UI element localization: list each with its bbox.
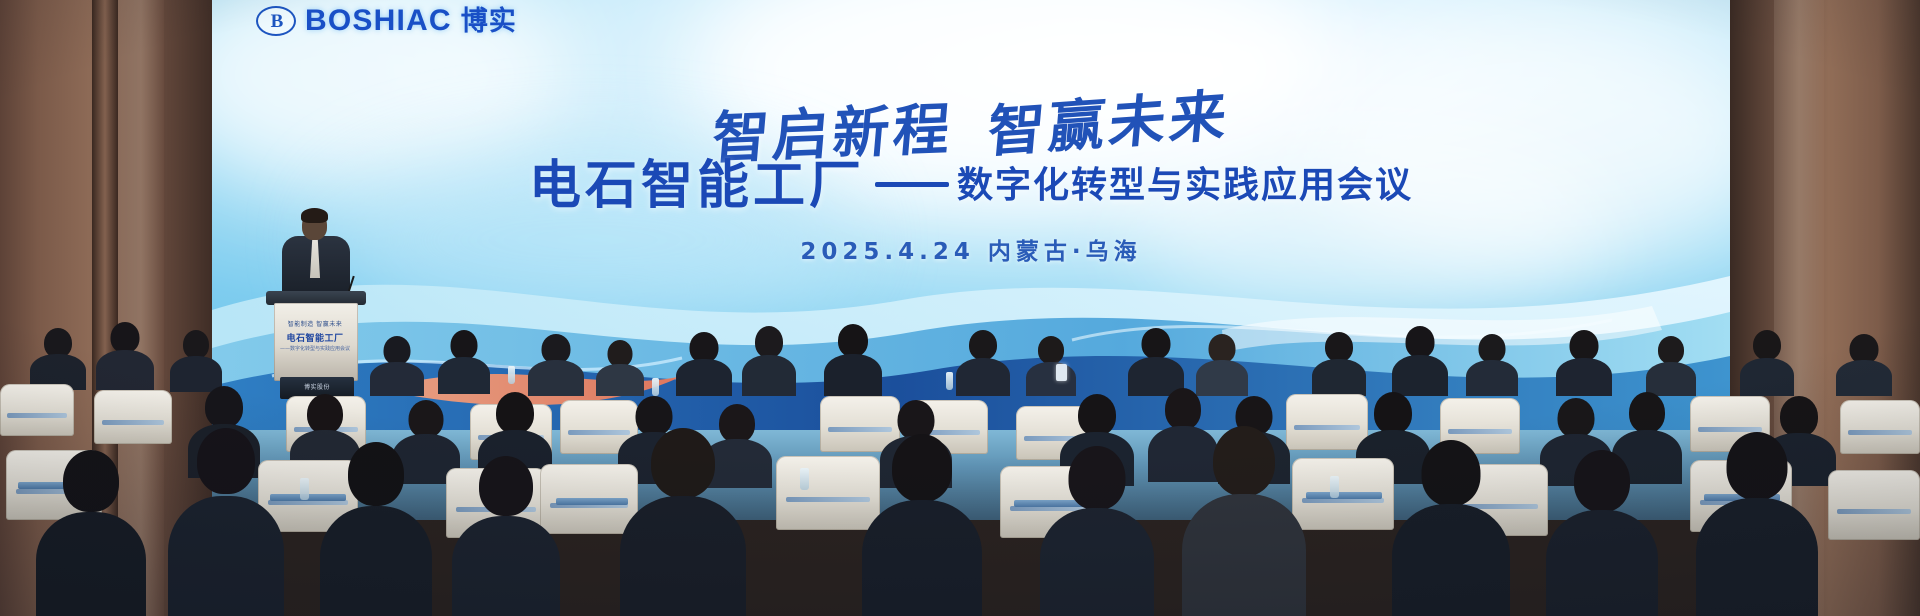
logo-wordmark: BOSHIAC <box>305 6 452 36</box>
banquet-chair <box>1840 400 1920 454</box>
calligraphy-slogan: 智启新程 智赢未来 <box>212 96 1730 162</box>
water-bottle <box>300 478 309 500</box>
person-head <box>1479 334 1506 363</box>
audience-person <box>528 334 584 396</box>
person-shoulders <box>528 360 584 396</box>
audience-person <box>620 428 746 616</box>
person-head <box>479 456 533 516</box>
audience-person <box>824 324 882 396</box>
audience-person <box>452 456 560 616</box>
audience-person <box>1392 440 1510 616</box>
person-shoulders <box>956 358 1010 396</box>
person-head <box>755 326 783 358</box>
audience-person <box>30 328 86 390</box>
company-logo: B BOSHIAC 博实 <box>256 6 517 36</box>
audience-person <box>1040 446 1154 616</box>
person-shoulders <box>1836 360 1892 396</box>
person-head <box>1209 334 1236 363</box>
person-head <box>608 340 633 367</box>
audience-person <box>862 434 982 616</box>
person-head <box>307 394 343 434</box>
person-head <box>1213 426 1275 496</box>
audience-person <box>370 336 424 396</box>
audience-person <box>1196 334 1248 396</box>
audience-person <box>1182 426 1306 616</box>
person-head <box>838 324 868 357</box>
person-head <box>1078 394 1116 436</box>
person-shoulders <box>1740 358 1794 396</box>
audience-person <box>438 330 490 394</box>
person-shoulders <box>1466 360 1518 396</box>
person-shoulders <box>36 512 146 616</box>
person-head <box>1727 432 1788 500</box>
person-shoulders <box>676 359 732 396</box>
person-shoulders <box>1646 362 1696 396</box>
person-shoulders <box>1696 498 1818 616</box>
person-shoulders <box>1556 358 1612 396</box>
audience-person <box>1312 332 1366 396</box>
person-head <box>1325 332 1353 362</box>
audience-person <box>956 330 1010 396</box>
water-bottle <box>800 468 809 490</box>
audience-person <box>1392 326 1448 396</box>
audience-person <box>742 326 796 396</box>
chair-sash <box>1306 492 1382 499</box>
slogan-phrase-2: 智赢未来 <box>985 88 1232 161</box>
person-shoulders <box>742 355 796 396</box>
audience-person <box>168 428 284 616</box>
person-head <box>1406 326 1435 358</box>
audience-person <box>320 442 432 616</box>
person-head <box>1658 336 1684 364</box>
person-head <box>63 450 119 512</box>
mobile-phone <box>1056 364 1067 381</box>
audience-area <box>0 300 1920 616</box>
person-shoulders <box>1546 510 1658 616</box>
audience-person <box>36 450 146 616</box>
audience-person <box>1740 330 1794 396</box>
person-head <box>205 386 243 428</box>
person-shoulders <box>320 506 432 616</box>
person-head <box>1142 328 1171 359</box>
person-shoulders <box>1392 504 1510 616</box>
person-head <box>969 330 997 360</box>
audience-person <box>596 340 644 396</box>
audience-person <box>1546 450 1658 616</box>
audience-person <box>1646 336 1696 396</box>
person-head <box>348 442 404 506</box>
water-bottle <box>946 372 953 390</box>
person-head <box>1574 450 1630 512</box>
person-shoulders <box>1312 359 1366 396</box>
audience-person <box>170 330 222 392</box>
person-head <box>409 400 444 438</box>
audience-person <box>96 322 154 390</box>
person-head <box>1422 440 1481 506</box>
person-head <box>1374 392 1412 434</box>
person-head <box>197 428 255 494</box>
person-head <box>384 336 411 365</box>
logo-chinese-name: 博实 <box>461 8 517 35</box>
audience-person <box>1466 334 1518 396</box>
person-shoulders <box>452 516 560 616</box>
person-head <box>1069 446 1126 510</box>
water-bottle <box>508 366 515 384</box>
person-shoulders <box>370 362 424 396</box>
person-shoulders <box>620 496 746 616</box>
person-head <box>1038 336 1064 364</box>
speaker-hair <box>301 208 328 223</box>
person-head <box>1753 330 1781 360</box>
person-head <box>1570 330 1599 361</box>
person-shoulders <box>438 357 490 394</box>
chair-sash <box>556 498 628 505</box>
person-shoulders <box>1392 355 1448 396</box>
person-shoulders <box>862 500 982 616</box>
person-head <box>1165 388 1201 430</box>
person-shoulders <box>824 354 882 396</box>
audience-person <box>1128 328 1184 396</box>
audience-person <box>1836 334 1892 396</box>
person-shoulders <box>1040 508 1154 616</box>
person-head <box>451 330 478 360</box>
audience-person <box>676 332 732 396</box>
audience-person <box>1556 330 1612 396</box>
person-shoulders <box>596 364 644 396</box>
person-head <box>1558 398 1595 438</box>
person-shoulders <box>96 350 154 390</box>
banquet-chair <box>94 390 172 444</box>
audience-person <box>1696 432 1818 616</box>
person-shoulders <box>168 496 284 616</box>
banquet-chair <box>0 384 74 436</box>
person-head <box>496 392 534 434</box>
person-head <box>183 330 209 359</box>
person-head <box>1629 392 1665 433</box>
person-head <box>1780 396 1818 437</box>
water-bottle <box>652 378 659 396</box>
water-bottle <box>1330 476 1339 498</box>
person-head <box>892 434 952 502</box>
banquet-chair <box>1828 470 1920 540</box>
logo-mark-letter: B <box>271 12 282 31</box>
person-shoulders <box>1182 494 1306 616</box>
conference-photo: B BOSHIAC 博实 智启新程 智赢未来 电石智能工厂 数字化转型与实践应用… <box>0 0 1920 616</box>
person-head <box>111 322 140 353</box>
person-head <box>651 428 715 498</box>
audience-person <box>1026 336 1076 396</box>
person-shoulders <box>1026 362 1076 396</box>
boshiac-roundel-icon: B <box>256 6 296 36</box>
